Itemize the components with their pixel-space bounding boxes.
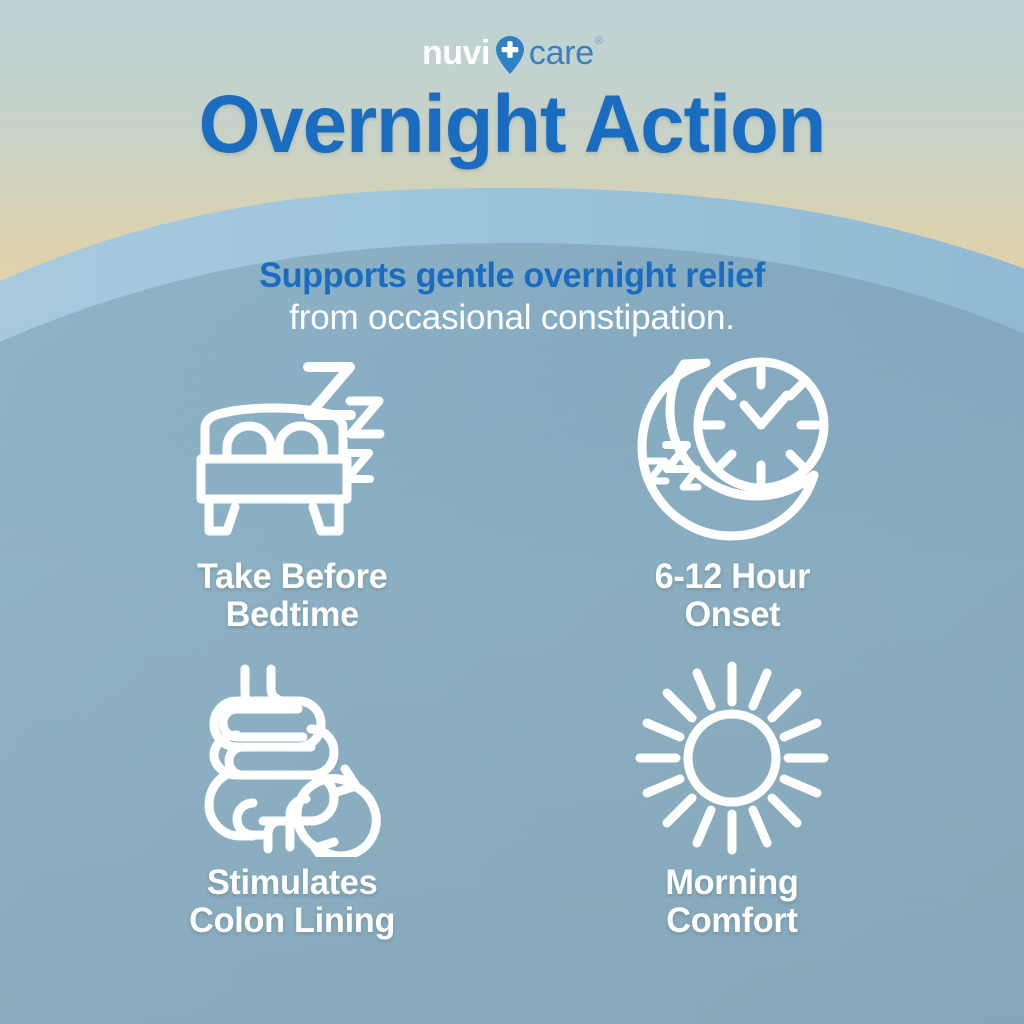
brand-name-part2: care xyxy=(529,36,594,70)
bed-with-zzz-icon xyxy=(187,352,397,552)
registered-mark: ® xyxy=(595,35,603,47)
brand-name-part1: nuvi xyxy=(422,36,490,70)
poster-root: nuvi care ® Overnight Action Supports ge… xyxy=(0,0,1024,1024)
subtitle-line-1: Supports gentle overnight relief xyxy=(10,256,1014,295)
feature-label-line-2: Comfort xyxy=(665,902,798,940)
moon-clock-zzz-icon xyxy=(632,352,832,552)
feature-label: Morning Comfort xyxy=(665,864,798,940)
feature-label: Take Before Bedtime xyxy=(197,558,388,634)
subtitle-block: Supports gentle overnight relief from oc… xyxy=(0,256,1024,339)
feature-item-take-before-bedtime: Take Before Bedtime xyxy=(72,352,512,658)
feature-item-morning-comfort: Morning Comfort xyxy=(512,658,952,964)
feature-label-line-1: Take Before xyxy=(197,558,388,596)
feature-grid: Take Before Bedtime xyxy=(72,352,952,964)
brand-logo: nuvi care ® xyxy=(0,30,1024,78)
page-title: Overnight Action xyxy=(15,84,1008,166)
feature-label-line-2: Onset xyxy=(654,596,810,634)
feature-label: 6-12 Hour Onset xyxy=(654,558,810,634)
feature-item-6-12-hour-onset: 6-12 Hour Onset xyxy=(512,352,952,658)
feature-label-line-1: Morning xyxy=(665,864,798,902)
feature-label: Stimulates Colon Lining xyxy=(189,864,395,940)
feature-label-line-2: Bedtime xyxy=(197,596,388,634)
subtitle-line-2: from occasional constipation. xyxy=(0,297,1024,339)
feature-label-line-1: 6-12 Hour xyxy=(654,558,810,596)
sun-icon xyxy=(634,658,830,858)
intestine-refresh-icon xyxy=(193,658,391,858)
feature-label-line-2: Colon Lining xyxy=(189,902,395,940)
feature-label-line-1: Stimulates xyxy=(189,864,395,902)
map-pin-plus-icon xyxy=(493,33,527,77)
feature-item-stimulates-colon-lining: Stimulates Colon Lining xyxy=(72,658,512,964)
